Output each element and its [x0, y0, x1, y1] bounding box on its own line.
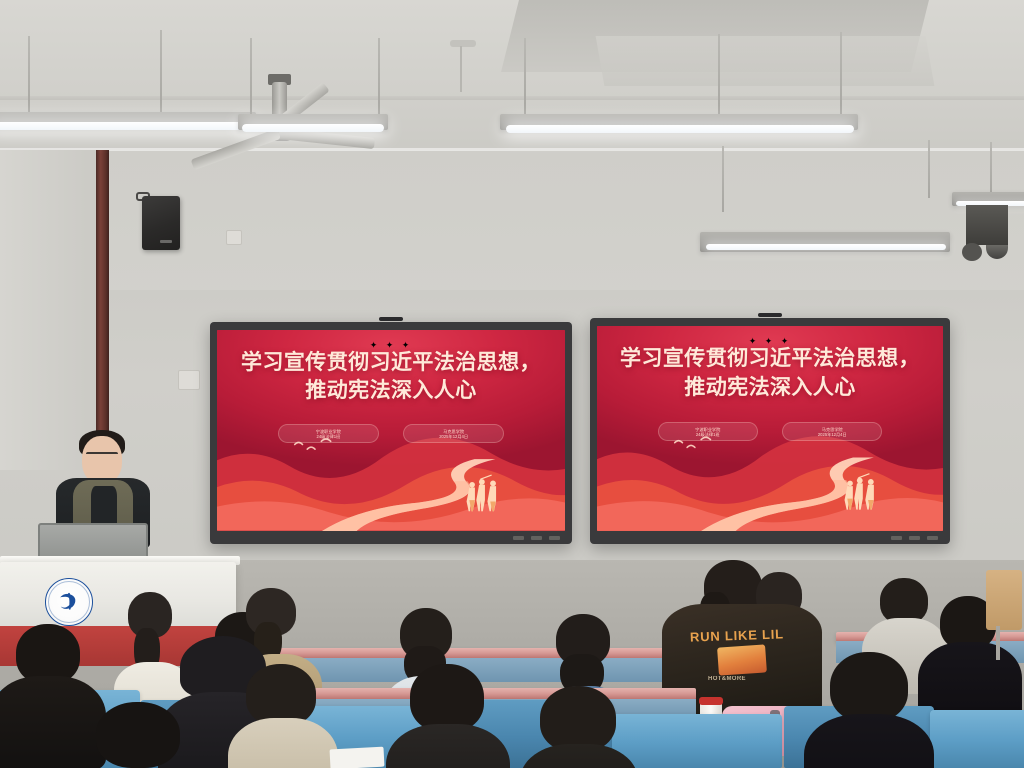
pill-org-class: 24级法律1班	[696, 432, 720, 437]
jacket-food-graphic	[717, 644, 767, 675]
slide-pill-right-org: 宁波职业学院 24级法律1班	[658, 422, 758, 441]
pill-date: 2025年12月4日	[439, 434, 468, 439]
fluorescent-tube-4	[706, 244, 946, 250]
display-camera-left	[379, 317, 403, 321]
slide-pills-right: 宁波职业学院 24级法律1班 马克思学院 2025年12月4日	[597, 422, 943, 441]
light-rod	[160, 30, 162, 116]
seat[interactable]	[930, 710, 1024, 768]
lecture-hall-scene: ✦ ✦ ✦ 学习宣传贯彻习近平法治思想， 推动宪法深入人心 宁波职业学院 24级…	[0, 0, 1024, 768]
slide-title-line2: 推动宪法深入人心	[217, 376, 565, 404]
slide-pills-left: 宁波职业学院 24级法律1班 马克思学院 2025年12月4日	[217, 424, 565, 443]
slide-right: ✦ ✦ ✦ 学习宣传贯彻习近平法治思想， 推动宪法深入人心 宁波职业学院 24级…	[597, 326, 943, 531]
jacket-sub-text: HOT&MORE	[708, 676, 746, 682]
display-button[interactable]	[909, 536, 920, 540]
pill-date: 2025年12月4日	[818, 432, 847, 437]
slide-title-line1: 学习宣传贯彻习近平法治思想，	[217, 348, 565, 376]
display-controls-left[interactable]	[210, 533, 572, 542]
slide-pill-left-org: 宁波职业学院 24级法律1班	[278, 424, 379, 443]
fluorescent-tube-1	[0, 122, 252, 130]
wooden-chair[interactable]	[986, 570, 1022, 630]
slide-pill-right-date: 马克思学院 2025年12月4日	[782, 422, 882, 441]
light-rod	[250, 38, 252, 116]
ceiling-hook-wire	[460, 46, 462, 92]
slide-left: ✦ ✦ ✦ 学习宣传贯彻习近平法治思想， 推动宪法深入人心 宁波职业学院 24级…	[217, 330, 565, 531]
people-silhouette-graphic	[461, 467, 517, 519]
people-silhouette-graphic	[839, 465, 894, 518]
light-rod	[524, 38, 526, 114]
light-rod	[28, 36, 30, 116]
left-display-panel: ✦ ✦ ✦ 学习宣传贯彻习近平法治思想， 推动宪法深入人心 宁波职业学院 24级…	[217, 330, 565, 531]
ceiling-hook	[450, 40, 476, 47]
wall-pipe	[96, 150, 109, 460]
presenter-glasses-icon	[86, 452, 118, 459]
display-controls-right[interactable]	[590, 533, 950, 542]
wall-plate[interactable]	[178, 370, 200, 390]
ceiling-slab-secondary	[596, 36, 935, 86]
display-button[interactable]	[891, 536, 902, 540]
light-rod	[928, 140, 930, 198]
pill-org-class: 24级法律1班	[316, 434, 340, 439]
right-display-panel: ✦ ✦ ✦ 学习宣传贯彻习近平法治思想， 推动宪法深入人心 宁波职业学院 24级…	[597, 326, 943, 531]
wall-edge-highlight	[0, 148, 1024, 151]
left-display[interactable]: ✦ ✦ ✦ 学习宣传贯彻习近平法治思想， 推动宪法深入人心 宁波职业学院 24级…	[210, 322, 572, 544]
slide-title-left: 学习宣传贯彻习近平法治思想， 推动宪法深入人心	[217, 348, 565, 404]
ceiling-beam	[0, 96, 1024, 100]
light-rod	[378, 38, 380, 118]
fluorescent-tube-3	[506, 125, 854, 133]
projector-lens	[962, 243, 982, 261]
podium	[0, 562, 236, 628]
display-camera-right	[758, 313, 782, 317]
right-display[interactable]: ✦ ✦ ✦ 学习宣传贯彻习近平法治思想， 推动宪法深入人心 宁波职业学院 24级…	[590, 318, 950, 544]
display-button[interactable]	[531, 536, 542, 540]
university-emblem	[45, 578, 93, 626]
desk-skirt-row-1	[270, 658, 690, 682]
fluorescent-tube-2	[242, 124, 384, 132]
light-rod	[722, 146, 724, 212]
slide-title-line1: 学习宣传贯彻习近平法治思想，	[597, 344, 943, 372]
light-rod	[840, 32, 842, 116]
display-button[interactable]	[927, 536, 938, 540]
chair-leg	[996, 626, 1000, 660]
paper-sheet[interactable]	[330, 747, 385, 768]
light-rod	[990, 142, 992, 196]
left-wall-section	[0, 150, 96, 470]
presenter-head	[82, 436, 122, 484]
seat[interactable]	[612, 714, 782, 768]
display-button[interactable]	[513, 536, 524, 540]
ceiling-projector	[966, 205, 1008, 245]
light-rod	[718, 34, 720, 116]
cup-lid	[699, 697, 723, 705]
slide-title-right: 学习宣传贯彻习近平法治思想， 推动宪法深入人心	[597, 344, 943, 400]
display-button[interactable]	[549, 536, 560, 540]
wall-plate[interactable]	[226, 230, 242, 245]
speaker-logo	[160, 240, 172, 243]
emblem-ring	[48, 581, 90, 623]
slide-title-line2: 推动宪法深入人心	[597, 373, 943, 401]
slide-pill-left-date: 马克思学院 2025年12月4日	[403, 424, 504, 443]
